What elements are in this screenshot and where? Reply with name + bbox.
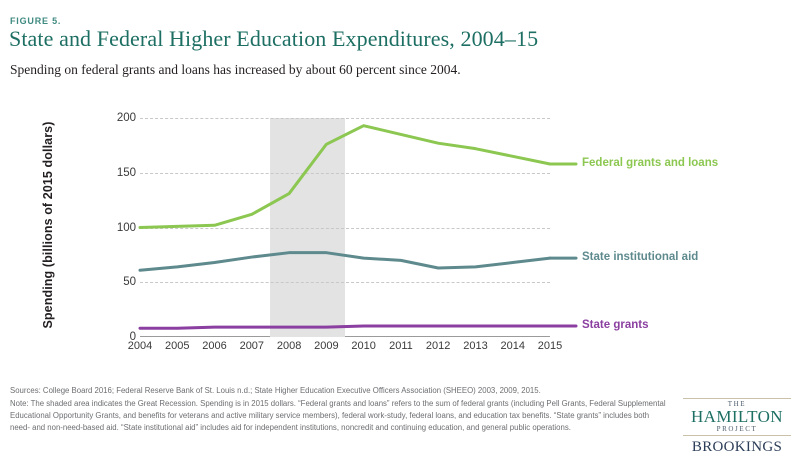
logo-hamilton-text: HAMILTON (683, 408, 791, 426)
hamilton-logo-box: THE HAMILTON PROJECT (683, 398, 791, 436)
y-axis-tick-150: 150 (117, 167, 136, 179)
x-axis-tick-2007: 2007 (240, 340, 264, 352)
x-axis-tick-2012: 2012 (426, 340, 450, 352)
footnotes: Sources: College Board 2016; Federal Res… (10, 385, 670, 434)
logo-brookings-text: BROOKINGS (683, 439, 791, 456)
series-line-0 (140, 126, 550, 228)
x-axis-tick-2009: 2009 (314, 340, 338, 352)
y-axis-label: Spending (billions of 2015 dollars) (41, 110, 55, 340)
figure-number-label: FIGURE 5. (10, 16, 61, 26)
y-axis-tick-200: 200 (117, 112, 136, 124)
x-axis-tick-2015: 2015 (538, 340, 562, 352)
figure-page: FIGURE 5. State and Federal Higher Educa… (0, 0, 800, 465)
x-axis-tick-2005: 2005 (165, 340, 189, 352)
series-label-1: State institutional aid (582, 251, 698, 263)
chart: Spending (billions of 2015 dollars) 0501… (0, 100, 800, 365)
series-lines (140, 118, 550, 337)
figure-subtitle: Spending on federal grants and loans has… (10, 62, 461, 78)
x-axis-tick-2010: 2010 (351, 340, 375, 352)
note-text: Note: The shaded area indicates the Grea… (10, 398, 670, 434)
series-line-1 (140, 253, 550, 271)
sources-text: Sources: College Board 2016; Federal Res… (10, 385, 670, 397)
plot-area: 0501001502002004200520062007200820092010… (140, 118, 550, 337)
x-axis-tick-2013: 2013 (463, 340, 487, 352)
series-line-2 (140, 326, 550, 328)
page-title: State and Federal Higher Education Expen… (9, 26, 538, 52)
logo-project-text: PROJECT (683, 426, 791, 433)
x-axis-tick-2011: 2011 (389, 340, 413, 352)
y-axis-tick-100: 100 (117, 222, 136, 234)
hamilton-project-brookings-logo: THE HAMILTON PROJECT BROOKINGS (683, 398, 791, 455)
x-axis-tick-2004: 2004 (128, 340, 152, 352)
series-label-0: Federal grants and loans (582, 157, 718, 169)
series-label-2: State grants (582, 319, 648, 331)
x-axis-tick-2014: 2014 (500, 340, 524, 352)
y-axis-tick-50: 50 (123, 276, 136, 288)
x-axis-tick-2008: 2008 (277, 340, 301, 352)
x-axis-tick-2006: 2006 (202, 340, 226, 352)
